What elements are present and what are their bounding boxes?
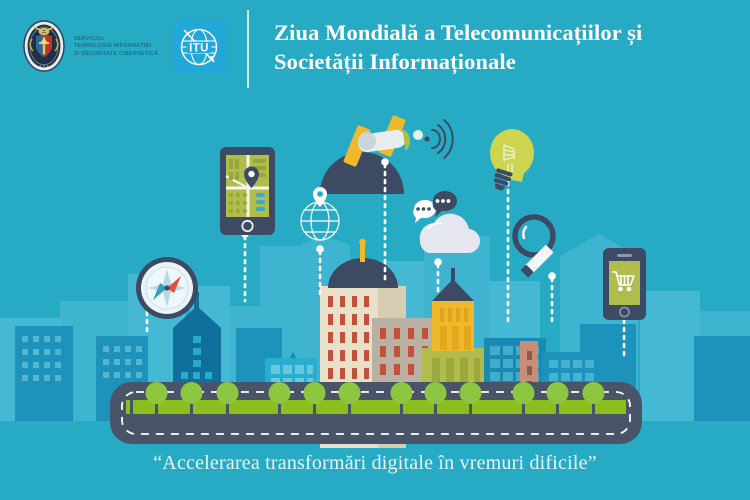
globe-pin-icon <box>301 187 339 240</box>
lightbulb-icon <box>490 129 534 192</box>
illustration-scene <box>0 96 750 448</box>
org-line-1: SERVICIUL <box>74 36 158 43</box>
org-logo-block: ★ ★ ★ SERVICIUL TEHNOLOGIA INFORMAȚIEI Ș… <box>22 16 158 76</box>
itu-globe-logo: ITU <box>173 21 225 73</box>
org-logo-text: SERVICIUL TEHNOLOGIA INFORMAȚIEI ȘI SECU… <box>74 34 158 58</box>
svg-text:★ ★ ★: ★ ★ ★ <box>39 64 49 68</box>
page-title: Ziua Mondială a Telecomunicațiilor și So… <box>274 18 724 76</box>
itu-logo-label: ITU <box>189 42 209 54</box>
org-line-3: ȘI SECURITATE CIBERNETICĂ <box>74 51 158 58</box>
poster-root: ★ ★ ★ SERVICIUL TEHNOLOGIA INFORMAȚIEI Ș… <box>0 0 750 500</box>
header-bar: ★ ★ ★ SERVICIUL TEHNOLOGIA INFORMAȚIEI Ș… <box>0 0 750 96</box>
moldova-coat-of-arms-emblem: ★ ★ ★ <box>22 19 66 73</box>
city-illustration <box>0 96 750 448</box>
cloud-chat-icon <box>413 191 480 253</box>
magnifier-icon <box>515 217 554 278</box>
tablet-map-icon <box>220 147 275 235</box>
poster-caption: “Accelerarea transformări digitale în vr… <box>0 452 750 475</box>
compass-icon <box>136 257 198 319</box>
header-divider <box>247 10 249 88</box>
smartphone-cart-icon <box>603 248 646 320</box>
org-line-2: TEHNOLOGIA INFORMAȚIEI <box>74 43 158 50</box>
